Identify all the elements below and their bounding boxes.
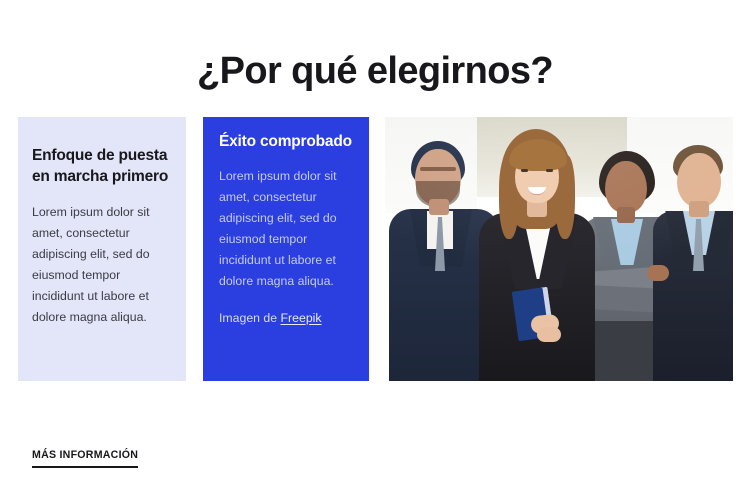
why-choose-us-section: ¿Por qué elegirnos? Enfoque de puesta en…	[0, 0, 750, 433]
team-photo	[385, 117, 733, 381]
person-man-right	[653, 145, 733, 381]
freepik-link[interactable]: Freepik	[281, 311, 322, 325]
person-woman-center	[471, 129, 601, 381]
page-title: ¿Por qué elegirnos?	[0, 47, 750, 95]
card-title: Éxito comprobado	[219, 131, 353, 152]
card-cta-link-startup-first[interactable]: MÁS INFORMACIÓN	[32, 448, 138, 468]
card-title: Enfoque de puesta en marcha primero	[32, 145, 172, 187]
photo-scene	[385, 117, 733, 381]
card-body-text: Lorem ipsum dolor sit amet, consectetur …	[219, 166, 353, 292]
image-credit: Imagen de Freepik	[219, 308, 353, 329]
card-body-text: Lorem ipsum dolor sit amet, consectetur …	[32, 202, 172, 328]
image-credit-prefix: Imagen de	[219, 311, 281, 325]
card-cta-link-proven-success[interactable]: MÁS INFORMACIÓN	[219, 463, 325, 483]
feature-card-startup-first[interactable]: Enfoque de puesta en marcha primero Lore…	[18, 117, 186, 381]
feature-card-proven-success[interactable]: Éxito comprobado Lorem ipsum dolor sit a…	[203, 117, 369, 381]
